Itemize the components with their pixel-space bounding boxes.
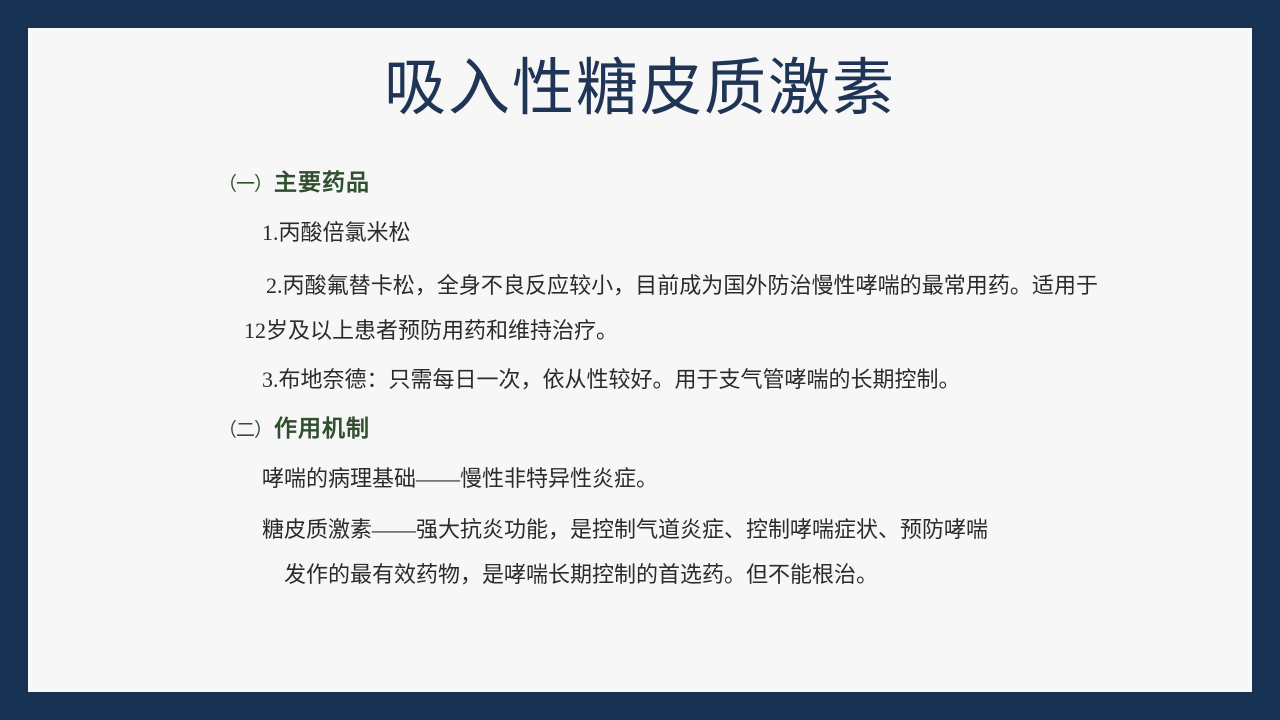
section-number-1: （一） [218, 174, 272, 195]
slide-frame: 吸入性糖皮质激素 （一）主要药品 1.丙酸倍氯米松 2.丙酸氟替卡松，全身不良反… [0, 0, 1280, 720]
slide-content: （一）主要药品 1.丙酸倍氯米松 2.丙酸氟替卡松，全身不良反应较小，目前成为国… [218, 168, 1098, 597]
list-item-line: 发作的最有效药物，是哮喘长期控制的首选药。但不能根治。 [262, 552, 1098, 597]
section-number-2: （二） [218, 420, 272, 441]
list-item: 2.丙酸氟替卡松，全身不良反应较小，目前成为国外防治慢性哮喘的最常用药。适用于1… [244, 263, 1098, 353]
page-title: 吸入性糖皮质激素 [28, 50, 1252, 128]
list-item: 哮喘的病理基础——慢性非特异性炎症。 [262, 456, 1098, 501]
section-heading-1: （一）主要药品 [218, 168, 1098, 200]
list-item: 1.丙酸倍氯米松 [262, 210, 1098, 255]
list-item: 糖皮质激素——强大抗炎功能，是控制气道炎症、控制哮喘症状、预防哮喘发作的最有效药… [262, 507, 1098, 597]
list-item-line: 糖皮质激素——强大抗炎功能，是控制气道炎症、控制哮喘症状、预防哮喘 [262, 517, 988, 542]
slide-panel: 吸入性糖皮质激素 （一）主要药品 1.丙酸倍氯米松 2.丙酸氟替卡松，全身不良反… [28, 28, 1252, 692]
section-heading-2: （二）作用机制 [218, 414, 1098, 446]
section-label-2: 作用机制 [274, 416, 370, 441]
section-label-1: 主要药品 [274, 170, 370, 195]
list-item: 3.布地奈德：只需每日一次，依从性较好。用于支气管哮喘的长期控制。 [262, 357, 1098, 402]
